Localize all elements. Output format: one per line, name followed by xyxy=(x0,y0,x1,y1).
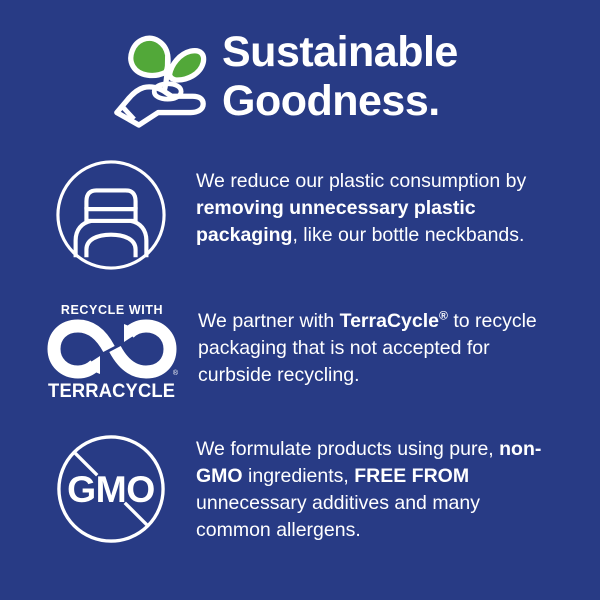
list-item: We reduce our plastic consumption by rem… xyxy=(0,154,600,276)
terracycle-wordmark: TERRACYCLE xyxy=(48,380,175,403)
list-item: GMO We formulate products using pure, no… xyxy=(0,428,600,550)
registered-trademark-mark: ® xyxy=(173,370,178,377)
list-item-text: We formulate products using pure, non-GM… xyxy=(176,428,554,544)
sustainable-goodness-infographic: { "colors": { "background": "#283B85", "… xyxy=(0,0,600,600)
list-item-text: We partner with TerraCycle® to recycle p… xyxy=(178,292,556,389)
list-item-text: We reduce our plastic consumption by rem… xyxy=(176,154,554,249)
benefit-rows: We reduce our plastic consumption by rem… xyxy=(0,154,600,550)
no-gmo-icon: GMO xyxy=(46,428,176,550)
hand-holding-sprout-icon xyxy=(112,28,208,128)
terracycle-logo: RECYCLE WITH xyxy=(46,292,178,414)
gmo-icon-label: GMO xyxy=(67,468,155,510)
page-title: Sustainable Goodness. xyxy=(222,28,458,127)
plastic-bottle-neck-icon xyxy=(46,154,176,276)
list-item: RECYCLE WITH xyxy=(0,292,600,414)
header: Sustainable Goodness. xyxy=(0,0,600,128)
infinity-recycle-arrows-icon: ® xyxy=(47,320,177,378)
terracycle-top-label: RECYCLE WITH xyxy=(61,303,163,317)
